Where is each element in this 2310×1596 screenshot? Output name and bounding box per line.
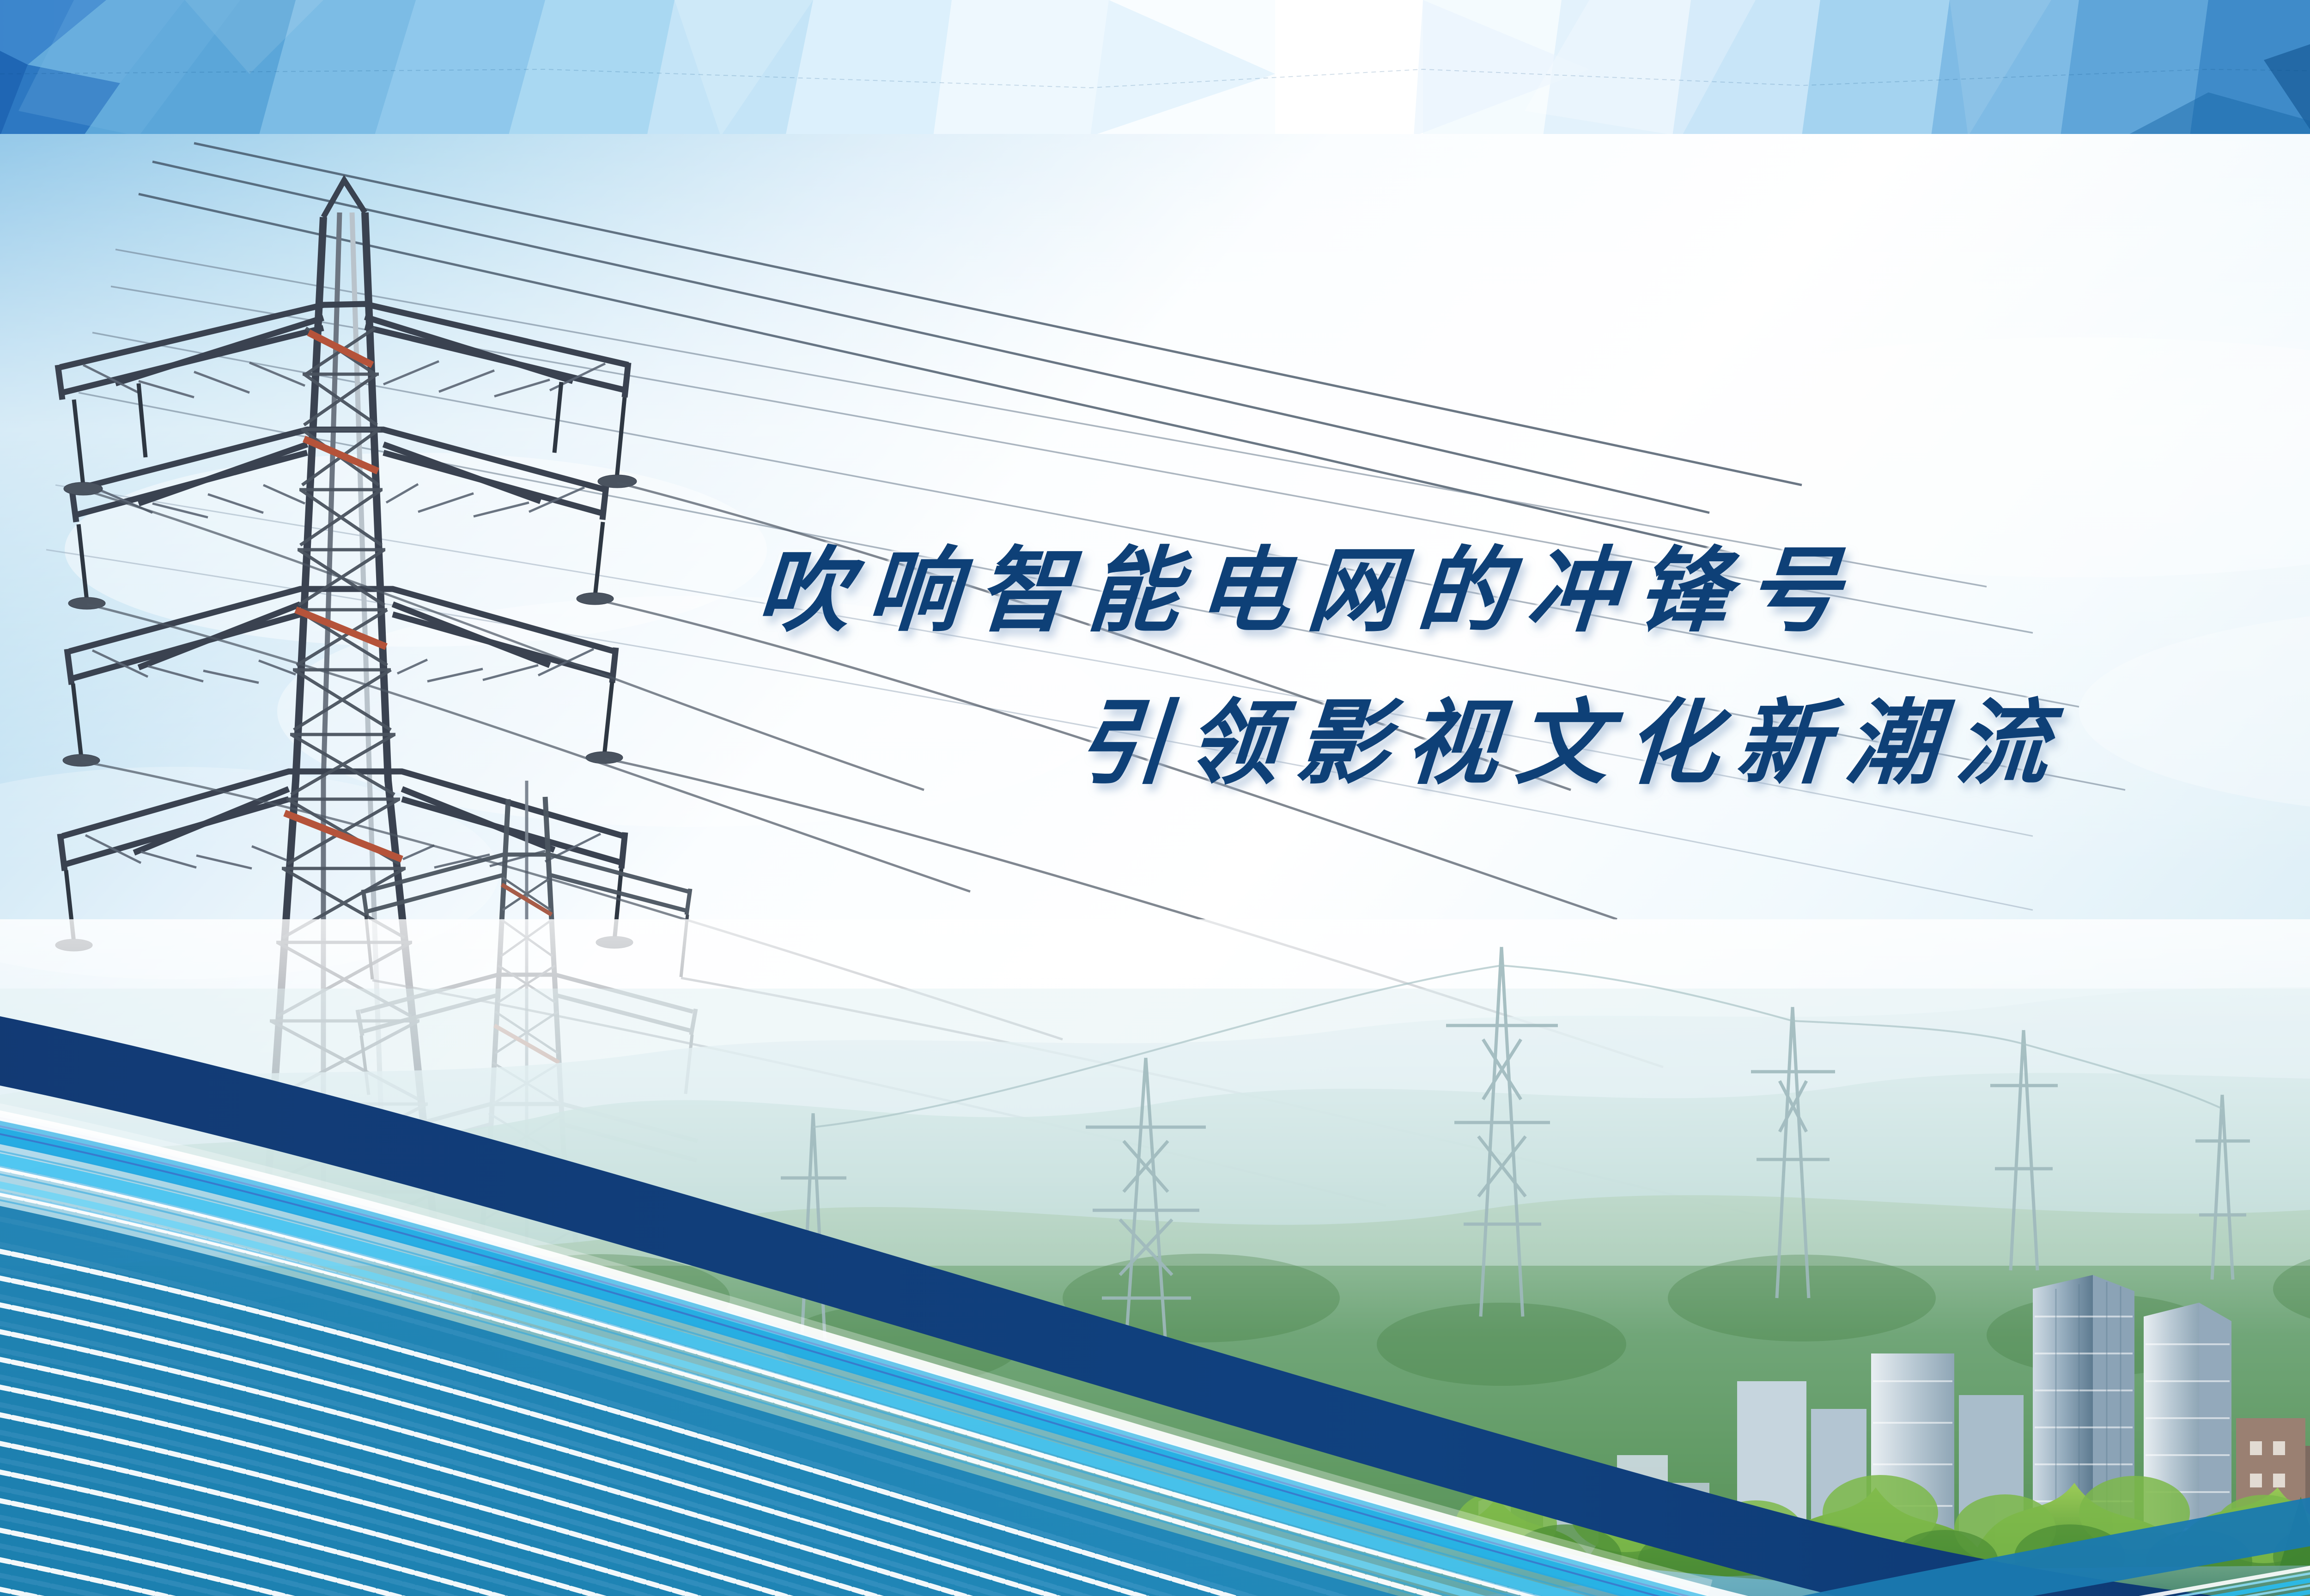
- photo-composition: [0, 134, 2310, 1596]
- top-geometric-band: [0, 0, 2310, 136]
- scene-illustration: [0, 134, 2310, 1596]
- poster-canvas: 吹响智能电网的冲锋号 引领影视文化新潮流: [0, 0, 2310, 1596]
- low-poly-pattern: [0, 0, 2310, 136]
